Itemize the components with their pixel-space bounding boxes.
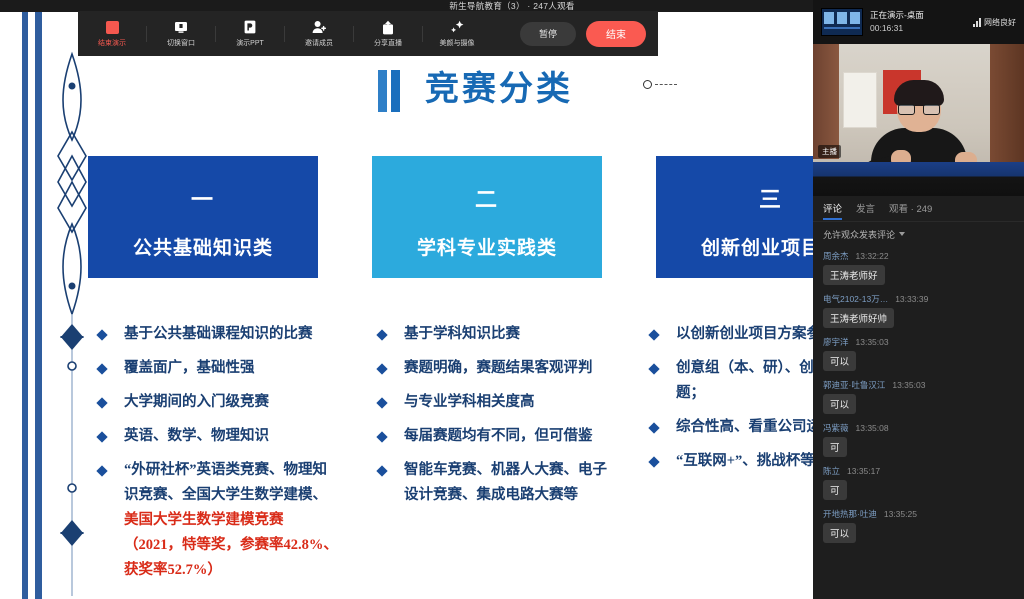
chat-user: 冯紫薇 [823,422,849,434]
category-box-3: 三 创新创业项目类 [656,156,813,278]
category-box-2: 二 学科专业实践类 [372,156,602,278]
chat-user: 开地热那·吐迪 [823,508,877,520]
chat-user: 廖宇洋 [823,336,849,348]
chat-user: 陈立 [823,465,840,477]
bullet-text-highlight: 美国大学生数学建模竞赛（2021，特等奖，参赛率42.8%、获奖率52.7%） [124,512,338,578]
tool-label: 结束演示 [98,38,126,48]
share-live-button[interactable]: 分享直播 [354,11,422,56]
chevron-down-icon [899,232,905,236]
shared-screen-area: 竞赛分类 一 公共基础知识类 二 学科专业实践类 三 创新创业项目类 基于公共基… [0,12,813,599]
chat-time: 13:35:03 [892,380,925,390]
chat-text: 王涛老师好帅 [823,308,894,328]
chat-text: 可以 [823,523,856,543]
screen-thumbnail-icon [821,8,863,36]
chat-user: 郭迪亚·吐鲁汉江 [823,379,885,391]
tool-label: 分享直播 [374,38,402,48]
tool-label: 邀请成员 [305,38,333,48]
slide-title: 竞赛分类 [425,66,573,112]
chat-user: 电气2102-13万… [823,293,888,305]
present-ppt-button[interactable]: 演示PPT [216,11,284,56]
tool-label: 切换窗口 [167,38,195,48]
tab-viewers[interactable]: 观看 · 249 [889,201,932,217]
chat-user: 周余杰 [823,250,849,262]
present-ppt-icon [243,20,258,35]
chat-message: 廖宇洋13:35:03 可以 [823,336,1014,371]
bullet-item: 创意组（本、研）、创业组；命题； [640,356,813,406]
invite-member-icon [312,20,327,35]
chat-message: 开地热那·吐迪13:35:25 可以 [823,508,1014,543]
pause-button[interactable]: 暂停 [520,22,576,46]
tool-label: 演示PPT [236,38,264,48]
network-label: 网络良好 [984,17,1016,28]
chat-text: 可以 [823,351,856,371]
bullet-item: “外研社杯”英语类竞赛、物理知识竞赛、全国大学生数学建模、美国大学生数学建模竞赛… [88,458,338,583]
category-name: 公共基础知识类 [88,233,318,260]
bullet-column-1: 基于公共基础课程知识的比赛 覆盖面广，基础性强 大学期间的入门级竞赛 英语、数学… [88,322,338,592]
bullet-item: 基于公共基础课程知识的比赛 [88,322,338,347]
bullet-item: 与专业学科相关度高 [368,390,618,415]
video-left-door [813,44,839,159]
allow-comments-label: 允许观众发表评论 [823,228,895,241]
chat-time: 13:32:22 [856,251,889,261]
chat-message-list[interactable]: 周余杰13:32:22 王涛老师好 电气2102-13万…13:33:39 王涛… [813,246,1024,591]
bullet-column-3: 以创新创业项目方案参赛 创意组（本、研）、创业组；命题； 综合性高、看重公司运营… [640,322,813,483]
beauty-camera-button[interactable]: 美颜与摄像 [423,11,491,56]
chat-message: 周余杰13:32:22 王涛老师好 [823,250,1014,285]
tab-comments[interactable]: 评论 [823,201,842,217]
bullet-item: 每届赛题均有不同，但可借鉴 [368,424,618,449]
bullet-item: “互联网+”、挑战杯等 [640,449,813,474]
left-accent-bar-outer [22,12,28,599]
bullet-item: 大学期间的入门级竞赛 [88,390,338,415]
bullet-item: 英语、数学、物理知识 [88,424,338,449]
invite-member-button[interactable]: 邀请成员 [285,11,353,56]
title-accent-bars [378,70,412,112]
bullet-text: “外研社杯”英语类竞赛、物理知识竞赛、全国大学生数学建模、 [124,462,327,503]
tool-label: 美颜与摄像 [440,38,475,48]
switch-window-button[interactable]: 切换窗口 [147,11,215,56]
share-live-icon [381,20,396,35]
chat-message: 电气2102-13万…13:33:39 王涛老师好帅 [823,293,1014,328]
ornamental-divider-icon [54,36,90,596]
stop-present-icon [105,20,120,35]
bullet-item: 综合性高、看重公司运营 [640,415,813,440]
bullet-item: 基于学科知识比赛 [368,322,618,347]
beauty-camera-icon [450,20,465,35]
presenting-status-bar: 正在演示-桌面 00:16:31 网络良好 [813,0,1024,44]
chat-text: 可 [823,437,847,457]
category-name: 学科专业实践类 [372,233,602,260]
presentation-toolbar: 结束演示 切换窗口 演示PPT 邀请成员 分享直 [78,11,658,56]
network-status: 网络良好 [973,17,1016,28]
presenting-timer: 00:16:31 [870,22,966,35]
chat-tab-bar: 评论 发言 观看 · 249 [813,196,1024,222]
category-number: 二 [372,182,602,214]
end-button[interactable]: 结束 [586,21,646,47]
live-sidebar: 正在演示-桌面 00:16:31 网络良好 [813,0,1024,599]
category-box-1: 一 公共基础知识类 [88,156,318,278]
chat-text: 可 [823,480,847,500]
host-video-tile[interactable]: 主播 [813,44,1024,196]
bullet-item: 以创新创业项目方案参赛 [640,322,813,347]
left-accent-bar-inner [35,12,42,599]
glasses-icon [898,104,940,115]
category-number: 一 [88,182,318,214]
chat-time: 13:35:03 [856,337,889,347]
chat-time: 13:35:08 [856,423,889,433]
chat-message: 郭迪亚·吐鲁汉江13:35:03 可以 [823,379,1014,414]
bullet-column-2: 基于学科知识比赛 赛题明确，赛题结果客观评判 与专业学科相关度高 每届赛题均有不… [368,322,618,517]
host-badge: 主播 [818,145,841,158]
video-desk [813,162,1024,196]
category-number: 三 [656,182,813,214]
bullet-item: 赛题明确，赛题结果客观评判 [368,356,618,381]
chat-text: 可以 [823,394,856,414]
live-streaming-app: 新生导航教育（3） · 247人观看 [0,0,1024,599]
category-name: 创新创业项目类 [656,233,813,260]
presenting-meta: 正在演示-桌面 00:16:31 [870,9,966,35]
chat-message: 陈立13:35:17 可 [823,465,1014,500]
allow-comments-dropdown[interactable]: 允许观众发表评论 [813,222,1024,246]
chat-time: 13:33:39 [895,294,928,304]
chat-time: 13:35:25 [884,509,917,519]
signal-bars-icon [973,18,981,27]
circle-dash-decoration-icon [643,80,677,89]
bullet-item: 智能车竞赛、机器人大赛、电子设计竞赛、集成电路大赛等 [368,458,618,508]
stop-present-button[interactable]: 结束演示 [78,11,146,56]
presenting-title: 正在演示-桌面 [870,9,966,22]
tab-speak[interactable]: 发言 [856,201,875,217]
chat-message: 冯紫薇13:35:08 可 [823,422,1014,457]
switch-window-icon [174,20,189,35]
chat-text: 王涛老师好 [823,265,885,285]
chat-time: 13:35:17 [847,466,880,476]
bullet-item: 覆盖面广，基础性强 [88,356,338,381]
